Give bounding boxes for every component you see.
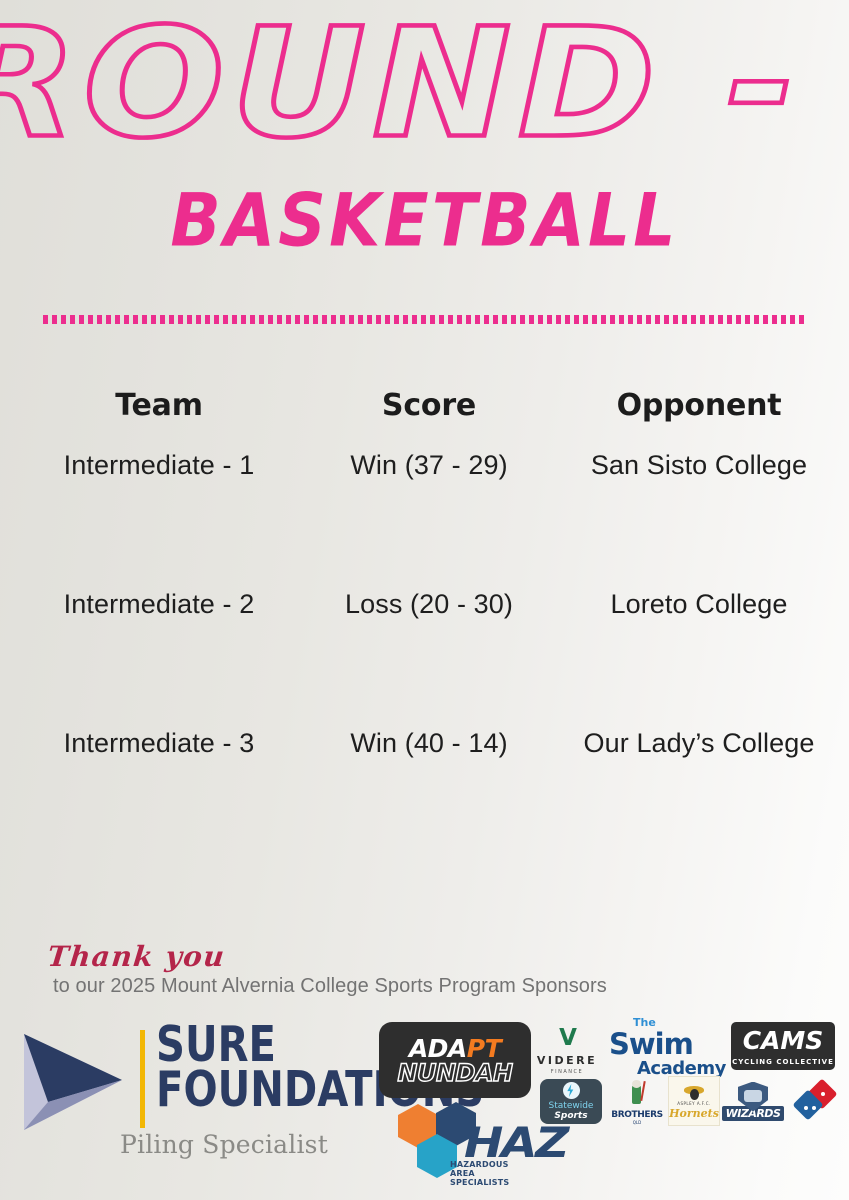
sponsor-logo-swim-academy: The Swim Academy xyxy=(609,1018,721,1076)
sponsor-logo-dominos xyxy=(790,1078,840,1124)
videre-sub: FINANCE xyxy=(551,1069,583,1075)
sponsor-logo-sure-foundations: SURE FOUNDATIONS Piling Specialist xyxy=(16,1018,396,1168)
thank-you-block: Thank you to our 2025 Mount Alvernia Col… xyxy=(46,940,607,998)
table-row: Intermediate - 2 Loss (20 - 30) Loreto C… xyxy=(14,589,844,728)
brothers-name: BROTHERS xyxy=(611,1110,662,1120)
sponsor-logo-cams: CAMS CYCLING COLLECTIVE xyxy=(731,1022,835,1070)
column-header-team: Team xyxy=(14,388,304,423)
sponsor-logo-wizards: WIZARDS xyxy=(725,1076,781,1126)
table-row: Intermediate - 3 Win (40 - 14) Our Lady’… xyxy=(14,728,844,867)
cell-team: Intermediate - 3 xyxy=(14,728,304,759)
results-poster: ROUND - 2 BASKETBALL Team Score Opponent… xyxy=(0,0,849,1200)
sure-foundations-arrow-icon xyxy=(18,1028,128,1136)
dotted-divider xyxy=(43,315,806,324)
sponsor-logo-aspley-hornets: ASPLEY A.F.C. Hornets xyxy=(668,1076,720,1126)
hornets-name: Hornets xyxy=(669,1107,719,1120)
hornets-club: ASPLEY A.F.C. xyxy=(677,1101,711,1106)
cell-score: Win (40 - 14) xyxy=(304,728,554,759)
sponsor-logo-haz: HAZ HAZARDOUS AREA SPECIALISTS xyxy=(396,1102,531,1174)
statewide-bolt-icon xyxy=(563,1082,580,1099)
cell-opponent: San Sisto College xyxy=(554,450,844,481)
videre-mark-icon: V xyxy=(559,1025,575,1051)
brothers-mascot-icon xyxy=(627,1080,647,1108)
sponsor-logo-videre-finance: V VIDERE FINANCE xyxy=(533,1024,601,1076)
adapt-wordmark: ADAPT xyxy=(409,1036,501,1061)
adapt-nundah-text: NUNDAH xyxy=(397,1061,512,1085)
swim-word: Swim xyxy=(609,1027,693,1061)
results-table: Team Score Opponent Intermediate - 1 Win… xyxy=(14,388,844,867)
thank-you-script: Thank you xyxy=(46,940,610,973)
sponsor-logo-adapt-nundah: ADAPT NUNDAH xyxy=(379,1022,531,1098)
cell-opponent: Our Lady’s College xyxy=(554,728,844,759)
haz-tagline: HAZARDOUS AREA SPECIALISTS xyxy=(450,1160,531,1187)
hornet-bee-icon xyxy=(684,1083,704,1101)
cell-team: Intermediate - 2 xyxy=(14,589,304,620)
brothers-sub: QLD xyxy=(633,1120,641,1125)
table-row: Intermediate - 1 Win (37 - 29) San Sisto… xyxy=(14,450,844,589)
column-header-opponent: Opponent xyxy=(554,388,844,423)
page-title: ROUND - 2 xyxy=(0,8,849,159)
cell-opponent: Loreto College xyxy=(554,589,844,620)
sponsor-logo-strip: SURE FOUNDATIONS Piling Specialist ADAPT… xyxy=(0,1010,849,1200)
videre-name: VIDERE xyxy=(537,1054,597,1067)
table-header-row: Team Score Opponent xyxy=(14,388,844,450)
thank-you-subtitle: to our 2025 Mount Alvernia College Sport… xyxy=(53,975,607,998)
cell-team: Intermediate - 1 xyxy=(14,450,304,481)
cams-wordmark: CAMS xyxy=(743,1026,824,1055)
cams-tagline: CYCLING COLLECTIVE xyxy=(732,1058,834,1066)
sport-subtitle: BASKETBALL xyxy=(0,178,849,263)
statewide-line1: Statewide xyxy=(549,1101,594,1111)
cell-score: Loss (20 - 30) xyxy=(304,589,554,620)
sponsor-logo-brothers: BROTHERS QLD xyxy=(611,1078,663,1126)
column-header-score: Score xyxy=(304,388,554,423)
cell-score: Win (37 - 29) xyxy=(304,450,554,481)
sure-foundations-divider-bar xyxy=(140,1030,145,1128)
statewide-line2: Sports xyxy=(554,1111,587,1121)
sure-foundations-tagline: Piling Specialist xyxy=(120,1130,328,1159)
sponsor-logo-statewide-sports: Statewide Sports xyxy=(540,1079,602,1124)
dominos-tile-icon xyxy=(795,1084,835,1118)
